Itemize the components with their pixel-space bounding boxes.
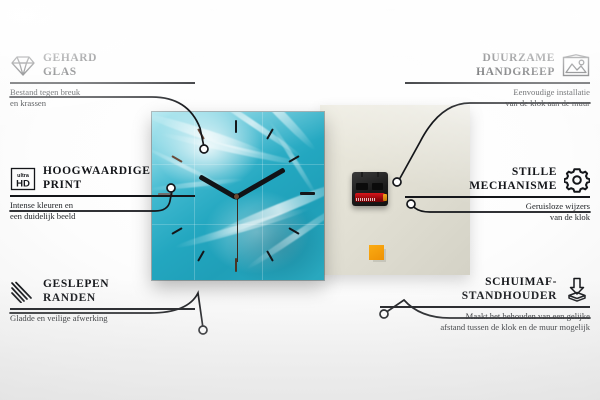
callout-title-line2: STANDHOUDER (462, 290, 557, 304)
callout-duurzame-handgreep: DUURZAME HANDGREEP Eenvoudige installati… (405, 52, 590, 108)
callout-title-line2: MECHANISME (469, 180, 557, 194)
hour-hand (198, 174, 237, 199)
callout-desc-line1: Intense kleuren en (10, 200, 195, 210)
second-hand (237, 196, 239, 262)
bevelled-edge-icon (10, 281, 36, 303)
callout-desc-line2: en krassen (10, 98, 195, 108)
callout-title-line1: DUURZAME (476, 52, 555, 66)
callout-title-line2: HANDGREEP (476, 66, 555, 80)
svg-text:HD: HD (16, 178, 30, 189)
quartz-movement (352, 172, 388, 206)
minute-hand (235, 167, 286, 199)
hanger-loop-icon (361, 172, 379, 177)
diamond-icon (10, 55, 36, 77)
callout-header: ultra HD HOOGWAARDIGE PRINT (10, 165, 195, 192)
callout-desc-line1: Eenvoudige installatie (405, 87, 590, 97)
callout-title-line1: GEHARD (43, 52, 97, 66)
callout-header: SCHUIMAF- STANDHOUDER (380, 276, 590, 303)
callout-stille-mechanisme: STILLE MECHANISME Geruisloze wijzers van… (405, 166, 590, 222)
callout-title-line2: PRINT (43, 179, 151, 193)
callout-title-line1: STILLE (469, 166, 557, 180)
battery-label (356, 198, 376, 201)
gear-icon (564, 167, 590, 193)
callout-header: GEHARD GLAS (10, 52, 195, 79)
callout-title-line2: GLAS (43, 66, 97, 80)
foam-standoff-icon (564, 277, 590, 303)
callout-desc-line2: een duidelijk beeld (10, 211, 195, 221)
callout-rule (405, 82, 590, 84)
callout-desc-line2: van de klok (405, 212, 590, 222)
callout-title-line1: SCHUIMAF- (462, 276, 557, 290)
callout-desc-line2: van de klok aan de muur (405, 98, 590, 108)
callout-title-line2: RANDEN (43, 292, 109, 306)
callout-title-line1: HOOGWAARDIGE (43, 165, 151, 179)
callout-header: GESLEPEN RANDEN (10, 278, 195, 305)
callout-hoogwaardige-print: ultra HD HOOGWAARDIGE PRINT Intense kleu… (10, 165, 195, 221)
callout-desc-line1: Maakt het behouden van een gelijke (380, 311, 590, 321)
callout-rule (10, 195, 195, 197)
callout-rule (405, 196, 590, 198)
callout-desc-line1: Bestand tegen breuk (10, 87, 195, 97)
callout-geslepen-randen: GESLEPEN RANDEN Gladde en veilige afwerk… (10, 278, 195, 324)
callout-header: STILLE MECHANISME (405, 166, 590, 193)
infographic-canvas: GEHARD GLAS Bestand tegen breuk en krass… (0, 0, 600, 400)
callout-rule (10, 308, 195, 310)
callout-title-line1: GESLEPEN (43, 278, 109, 292)
picture-frame-icon (562, 54, 590, 77)
callout-schuimaf-standhouder: SCHUIMAF- STANDHOUDER Maakt het behouden… (380, 276, 590, 332)
hand-hub (234, 194, 239, 199)
callout-rule (380, 306, 590, 308)
movement-slot-left (356, 183, 368, 190)
ultra-hd-icon: ultra HD (10, 167, 36, 191)
callout-desc-line1: Geruisloze wijzers (405, 201, 590, 211)
foam-standoff-pad (369, 245, 384, 260)
callout-rule (10, 82, 195, 84)
callout-gehard-glas: GEHARD GLAS Bestand tegen breuk en krass… (10, 52, 195, 108)
callout-desc-line2: afstand tussen de klok en de muur mogeli… (380, 322, 590, 332)
callout-header: DUURZAME HANDGREEP (405, 52, 590, 79)
movement-slot-right (372, 183, 383, 190)
callout-desc-line1: Gladde en veilige afwerking (10, 313, 195, 323)
